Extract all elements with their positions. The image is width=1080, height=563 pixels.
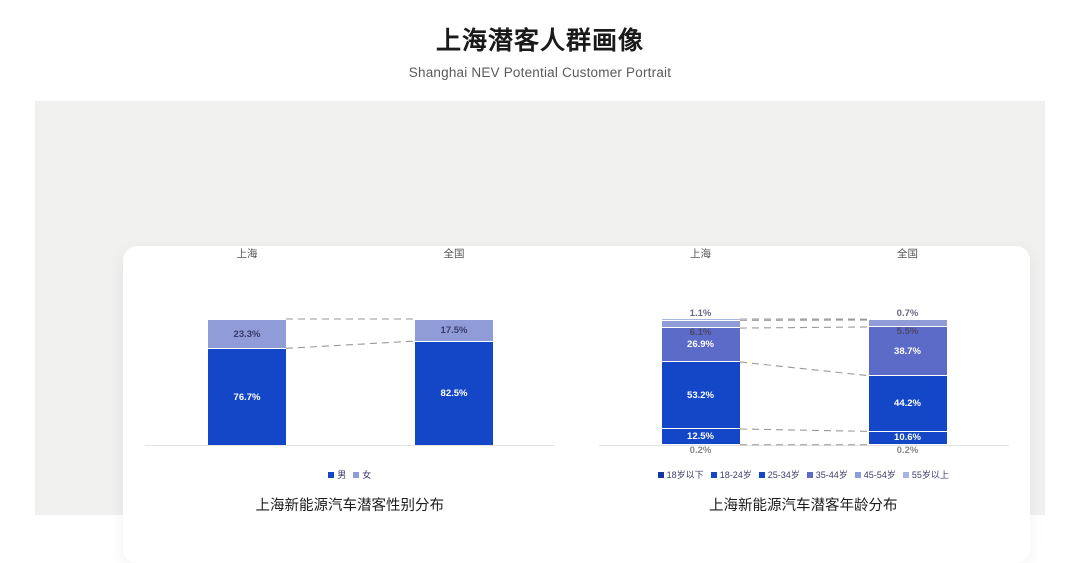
legend-item[interactable]: 45-54岁 (855, 468, 896, 481)
legend-item[interactable]: 18-24岁 (711, 468, 752, 481)
connector-ribbons (577, 246, 1031, 446)
x-axis-label: 全国 (415, 246, 493, 261)
legend-swatch-icon (855, 472, 861, 478)
bar-segment[interactable]: 5.5% (869, 319, 947, 326)
legend-swatch-icon (353, 472, 359, 478)
page-title: 上海潜客人群画像 (0, 26, 1080, 56)
legend-swatch-icon (658, 472, 664, 478)
chart-age: 1.1%6.1%26.9%53.2%12.5%0.2%0.7%5.5%38.7%… (577, 246, 1031, 563)
legend-item[interactable]: 25-34岁 (759, 468, 800, 481)
connector-ribbons (123, 246, 577, 446)
legend-swatch-icon (807, 472, 813, 478)
page-subtitle: Shanghai NEV Potential Customer Portrait (0, 65, 1080, 80)
legend-label: 45-54岁 (864, 468, 896, 481)
legend-item[interactable]: 男 (328, 468, 346, 481)
bar-segment[interactable]: 23.3% (208, 319, 286, 348)
legend-swatch-icon (759, 472, 765, 478)
legend-swatch-icon (903, 472, 909, 478)
bar-segment[interactable]: 12.5% (662, 428, 740, 444)
x-axis-label: 全国 (869, 246, 947, 261)
legend-swatch-icon (711, 472, 717, 478)
plot-area: 1.1%6.1%26.9%53.2%12.5%0.2%0.7%5.5%38.7%… (577, 246, 1031, 446)
bar-segment[interactable]: 76.7% (208, 348, 286, 445)
chart-caption: 上海新能源汽车潜客性别分布 (123, 494, 577, 515)
page-header: 上海潜客人群画像 Shanghai NEV Potential Customer… (0, 0, 1080, 80)
bar-segment[interactable]: 10.6% (869, 431, 947, 444)
charts-row: 23.3%76.7%17.5%82.5%上海全国男女上海新能源汽车潜客性别分布1… (123, 246, 1030, 563)
x-axis-label: 上海 (208, 246, 286, 261)
legend-item[interactable]: 55岁以上 (903, 468, 949, 481)
bar-segment[interactable]: 44.2% (869, 375, 947, 431)
chart-caption: 上海新能源汽车潜客年龄分布 (577, 494, 1031, 515)
legend-item[interactable]: 18岁以下 (658, 468, 704, 481)
bar-segment[interactable]: 0.7% (869, 318, 947, 319)
chart-legend: 男女 (123, 468, 577, 481)
charts-card: 23.3%76.7%17.5%82.5%上海全国男女上海新能源汽车潜客性别分布1… (123, 246, 1030, 563)
legend-label: 55岁以上 (912, 468, 949, 481)
bar-segment[interactable]: 53.2% (662, 361, 740, 428)
legend-label: 35-44岁 (816, 468, 848, 481)
chart-legend: 18岁以下18-24岁25-34岁35-44岁45-54岁55岁以上 (577, 468, 1031, 481)
legend-item[interactable]: 35-44岁 (807, 468, 848, 481)
x-axis-line (599, 445, 1009, 446)
stacked-bar[interactable]: 17.5%82.5% (415, 319, 493, 445)
stacked-bar[interactable]: 23.3%76.7% (208, 319, 286, 445)
x-axis-label: 上海 (662, 246, 740, 261)
stacked-bar[interactable]: 0.7%5.5%38.7%44.2%10.6%0.2% (869, 318, 947, 445)
x-axis-line (145, 445, 555, 446)
bar-segment[interactable]: 0.2% (662, 444, 740, 445)
chart-gender: 23.3%76.7%17.5%82.5%上海全国男女上海新能源汽车潜客性别分布 (123, 246, 577, 563)
legend-label: 男 (337, 468, 346, 481)
legend-label: 25-34岁 (768, 468, 800, 481)
stacked-bar[interactable]: 1.1%6.1%26.9%53.2%12.5%0.2% (662, 318, 740, 445)
plot-area: 23.3%76.7%17.5%82.5% (123, 246, 577, 446)
bar-segment[interactable]: 0.2% (869, 444, 947, 445)
legend-label: 18-24岁 (720, 468, 752, 481)
bar-segment[interactable]: 6.1% (662, 320, 740, 328)
legend-item[interactable]: 女 (353, 468, 371, 481)
content-panel: 23.3%76.7%17.5%82.5%上海全国男女上海新能源汽车潜客性别分布1… (35, 101, 1045, 515)
bar-segment[interactable]: 17.5% (415, 319, 493, 341)
legend-label: 18岁以下 (667, 468, 704, 481)
bar-segment[interactable]: 82.5% (415, 341, 493, 445)
legend-swatch-icon (328, 472, 334, 478)
legend-label: 女 (362, 468, 371, 481)
